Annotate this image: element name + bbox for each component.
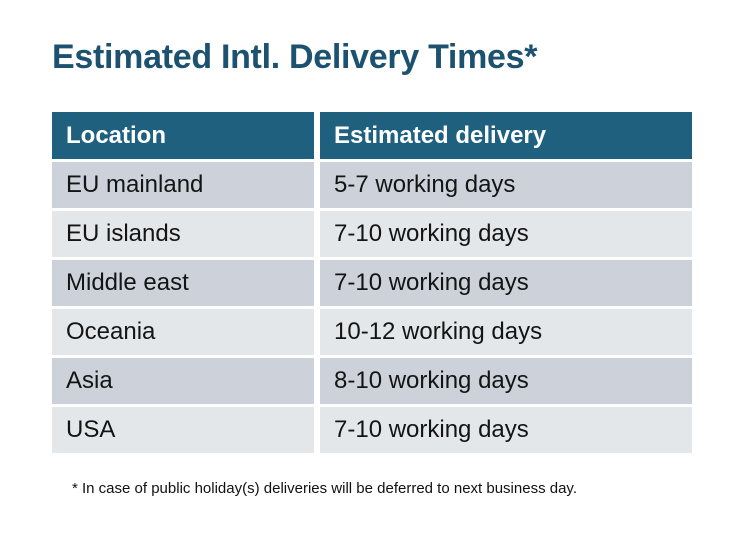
table-row: Asia 8-10 working days xyxy=(52,358,692,404)
cell-location: Asia xyxy=(52,358,314,404)
table-row: EU islands 7-10 working days xyxy=(52,211,692,257)
cell-location: Oceania xyxy=(52,309,314,355)
delivery-times-page: Estimated Intl. Delivery Times* Location… xyxy=(0,0,745,536)
cell-location: EU islands xyxy=(52,211,314,257)
table-row: USA 7-10 working days xyxy=(52,407,692,453)
column-header-location: Location xyxy=(52,112,314,159)
cell-estimated-delivery: 8-10 working days xyxy=(320,358,692,404)
cell-estimated-delivery: 7-10 working days xyxy=(320,407,692,453)
estimated-delivery-times-table: Location Estimated delivery EU mainland … xyxy=(52,112,692,456)
cell-estimated-delivery: 10-12 working days xyxy=(320,309,692,355)
cell-location: EU mainland xyxy=(52,162,314,208)
footnote-public-holiday: * In case of public holiday(s) deliverie… xyxy=(72,480,577,497)
table-row: Middle east 7-10 working days xyxy=(52,260,692,306)
cell-estimated-delivery: 7-10 working days xyxy=(320,211,692,257)
cell-location: USA xyxy=(52,407,314,453)
cell-estimated-delivery: 7-10 working days xyxy=(320,260,692,306)
table-row: Oceania 10-12 working days xyxy=(52,309,692,355)
column-header-estimated-delivery: Estimated delivery xyxy=(320,112,692,159)
cell-location: Middle east xyxy=(52,260,314,306)
page-title: Estimated Intl. Delivery Times* xyxy=(52,36,537,78)
table-row: EU mainland 5-7 working days xyxy=(52,162,692,208)
cell-estimated-delivery: 5-7 working days xyxy=(320,162,692,208)
table-header-row: Location Estimated delivery xyxy=(52,112,692,159)
